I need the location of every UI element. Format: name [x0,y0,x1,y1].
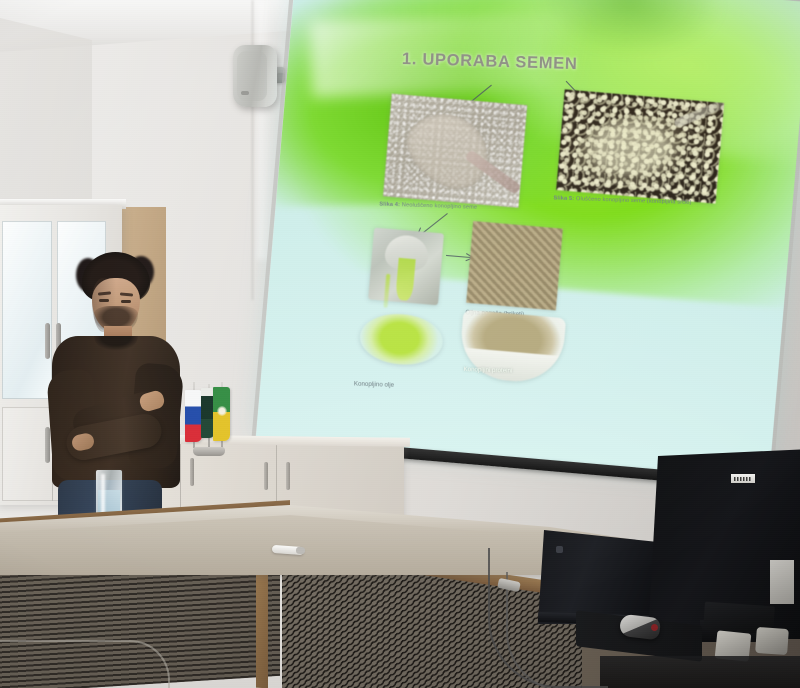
mouse-scroll-icon[interactable] [651,624,658,631]
slide-image-whole-seed [382,94,527,208]
monitor-asset-label [731,474,755,483]
slide-image-oil-press [369,227,444,305]
eye-right [121,300,131,303]
eye-left [99,299,109,302]
white-device [770,560,794,604]
speaker-logo-icon [241,91,249,95]
press-oil-stream [395,258,415,301]
credenza-handle-4[interactable] [286,462,290,490]
cable-floor-run [0,640,170,688]
spoon-shape [394,97,502,202]
spoon-bowl-shape [575,114,708,189]
caption-slika-4-prefix: Slika 4: [379,201,400,208]
slide-surface: 1. UPORABA SEMEN Slika 4: Neoluščeno kon… [256,0,800,480]
dark-shelf-area [600,656,800,688]
flag-municipal-emblem-icon [217,406,227,416]
slide-image-hulled-seed [556,89,724,203]
marker-cap[interactable] [296,547,305,555]
label-konopljino-olje: Konopljino olje [353,381,393,389]
slide-image-hemp-oil [358,310,444,367]
cable-secondary [506,572,606,688]
glass-highlight [101,474,105,514]
projection-screen: 1. UPORABA SEMEN Slika 4: Neoluščeno kon… [256,0,800,480]
wall-corner-highlight [257,0,275,260]
metal-object-2 [755,627,789,655]
caption-slika-5-prefix: Slika 5: [553,196,574,203]
credenza-handle-3[interactable] [264,462,268,490]
speaker-arm [277,73,285,78]
speaker-body [233,45,277,107]
wall-speaker [233,45,281,107]
photograph-scene: 1. UPORABA SEMEN Slika 4: Neoluščeno kon… [0,0,800,688]
slide-image-press-cake [466,221,563,310]
